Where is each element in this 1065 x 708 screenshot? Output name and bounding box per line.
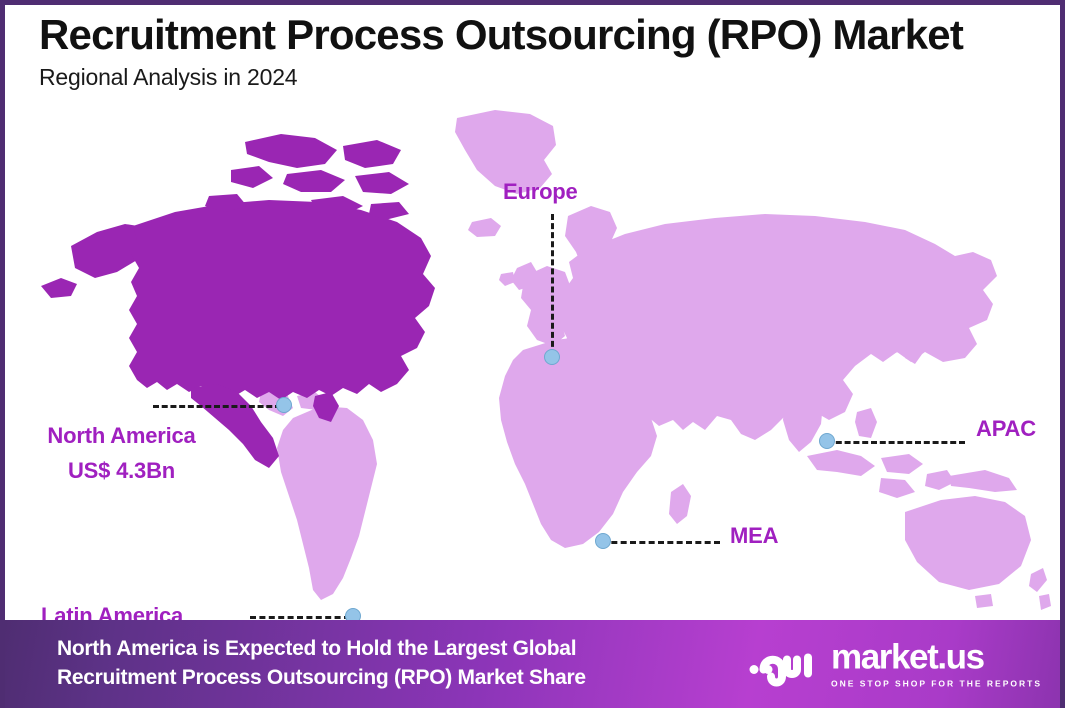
infographic-root: Recruitment Process Outsourcing (RPO) Ma… [0, 0, 1065, 708]
page-subtitle: Regional Analysis in 2024 [39, 64, 1059, 91]
world-map-svg [25, 100, 1055, 620]
world-map-stage: North America US$ 4.3Bn Latin America Eu… [5, 100, 1065, 625]
page-title: Recruitment Process Outsourcing (RPO) Ma… [39, 13, 1059, 57]
callout-mea: MEA [730, 523, 778, 549]
market-us-logo[interactable]: market.us ONE STOP SHOP FOR THE REPORTS [749, 640, 1042, 689]
callout-north-america: North America US$ 4.3Bn [19, 423, 224, 484]
callout-north-america-value: US$ 4.3Bn [19, 458, 224, 484]
map-marker-north-america[interactable] [276, 397, 292, 413]
callout-apac-label: APAC [976, 416, 1036, 441]
map-region-north-america-highlighted [41, 134, 435, 468]
banner-headline: North America is Expected to Hold the La… [57, 635, 586, 693]
leader-line-mea [602, 541, 720, 544]
banner-headline-line1: North America is Expected to Hold the La… [57, 637, 576, 660]
leader-line-latin-america [250, 616, 350, 619]
map-marker-europe[interactable] [544, 349, 560, 365]
leader-line-europe [551, 214, 554, 356]
callout-north-america-label: North America [47, 423, 195, 448]
map-marker-apac[interactable] [819, 433, 835, 449]
header: Recruitment Process Outsourcing (RPO) Ma… [39, 13, 1059, 91]
market-us-logo-text: market.us ONE STOP SHOP FOR THE REPORTS [831, 640, 1042, 689]
leader-line-north-america [153, 405, 281, 408]
leader-line-apac [827, 441, 965, 444]
market-us-logo-mark-icon [749, 642, 821, 686]
map-marker-mea[interactable] [595, 533, 611, 549]
callout-europe: Europe [503, 179, 578, 205]
market-us-tagline: ONE STOP SHOP FOR THE REPORTS [831, 679, 1042, 689]
banner-headline-line2: Recruitment Process Outsourcing (RPO) Ma… [57, 664, 586, 693]
callout-mea-label: MEA [730, 523, 778, 548]
callout-apac: APAC [976, 416, 1036, 442]
bottom-banner: North America is Expected to Hold the La… [5, 620, 1065, 708]
market-us-name: market.us [831, 640, 1042, 675]
callout-europe-label: Europe [503, 179, 578, 204]
